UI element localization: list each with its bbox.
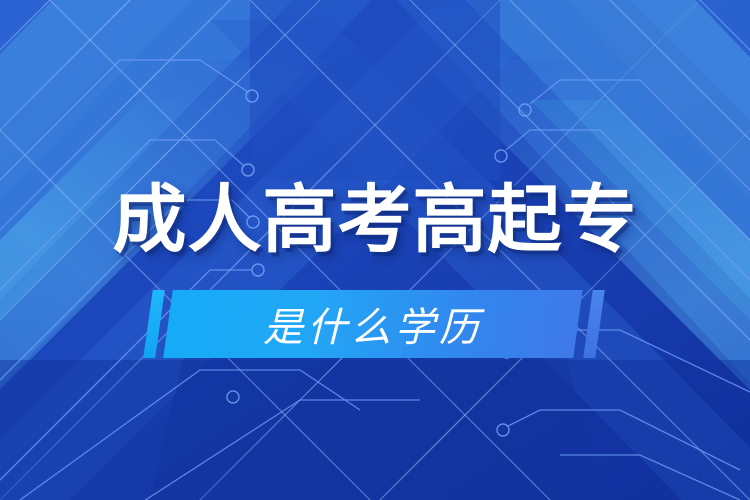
banner-subtitle-text: 是什么学历 — [168, 290, 578, 358]
lower-left-light-wedge — [0, 60, 330, 500]
circuit-node-ring — [246, 90, 258, 102]
circuit-node-ring — [519, 104, 531, 116]
banner-main-title: 成人高考高起专 — [113, 183, 638, 257]
circuit-left-group — [0, 60, 264, 500]
circuit-bottom-left-group — [20, 370, 420, 500]
circuit-node-ring — [497, 424, 509, 436]
title-area: 成人高考高起专 — [0, 168, 750, 272]
promo-banner: 成人高考高起专 是什么学历 — [0, 0, 750, 500]
circuit-node-ring — [227, 391, 239, 403]
lower-right-light-wedge — [420, 60, 750, 500]
circuit-node-ring — [495, 150, 507, 162]
ribbon-left-accent-bar — [143, 290, 165, 358]
ribbon-right-accent-bar — [583, 290, 605, 358]
subtitle-ribbon: 是什么学历 — [0, 284, 750, 368]
top-center-flat — [250, 0, 500, 180]
bottom-vignette — [0, 360, 750, 500]
